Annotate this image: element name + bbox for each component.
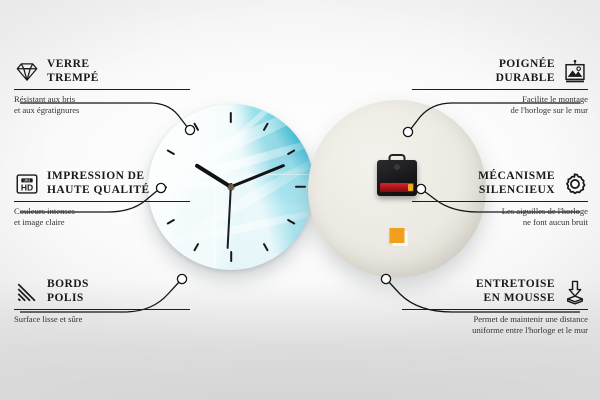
feature-title: MÉCANISME SILENCIEUX [478,170,555,197]
gear-icon [562,171,588,197]
divider [402,309,588,310]
feature-header: BORDS POLIS [14,278,190,305]
feature-subtitle: Résistant aux bris et aux égratignures [14,94,190,115]
picture-hanger-icon [562,59,588,85]
feature-header: ultra HD IMPRESSION DE HAUTE QUALITÉ [14,170,190,197]
feature-subtitle: Couleurs intenses et image claire [14,206,190,227]
divider [14,89,190,90]
feature-entretoise-en-mousse: ENTRETOISE EN MOUSSE Permet de maintenir… [402,278,588,335]
feature-poignee-durable: POIGNÉE DURABLE Facilite le montage de l… [412,58,588,115]
feature-impression-haute-qualite: ultra HD IMPRESSION DE HAUTE QUALITÉ Cou… [14,170,190,227]
feature-subtitle: Facilite le montage de l'horloge sur le … [412,94,588,115]
feature-header: VERRE TREMPÉ [14,58,190,85]
feature-subtitle: Les aiguilles de l'horloge ne font aucun… [412,206,588,227]
diamond-icon [14,59,40,85]
feature-title: POIGNÉE DURABLE [496,58,555,85]
feature-subtitle: Permet de maintenir une distance uniform… [402,314,588,335]
feature-header: MÉCANISME SILENCIEUX [412,170,588,197]
feature-verre-trempe: VERRE TREMPÉ Résistant aux bris et aux é… [14,58,190,115]
ultra-hd-badge-icon: ultra HD [14,171,40,197]
feature-bords-polis: BORDS POLIS Surface lisse et sûre [14,278,190,325]
feature-title: ENTRETOISE EN MOUSSE [476,278,555,305]
feature-title: BORDS POLIS [47,278,89,305]
divider [412,89,588,90]
feature-title: VERRE TREMPÉ [47,58,99,85]
feature-header: POIGNÉE DURABLE [412,58,588,85]
polished-edge-icon [14,279,40,305]
feature-mecanisme-silencieux: MÉCANISME SILENCIEUX Les aiguilles de l'… [412,170,588,227]
divider [14,201,190,202]
divider [412,201,588,202]
divider [14,309,190,310]
foam-spacer-arrow-icon [562,279,588,305]
feature-subtitle: Surface lisse et sûre [14,314,190,325]
feature-title: IMPRESSION DE HAUTE QUALITÉ [47,170,150,197]
svg-text:HD: HD [21,182,33,192]
infographic-stage: VERRE TREMPÉ Résistant aux bris et aux é… [0,0,600,400]
feature-header: ENTRETOISE EN MOUSSE [402,278,588,305]
